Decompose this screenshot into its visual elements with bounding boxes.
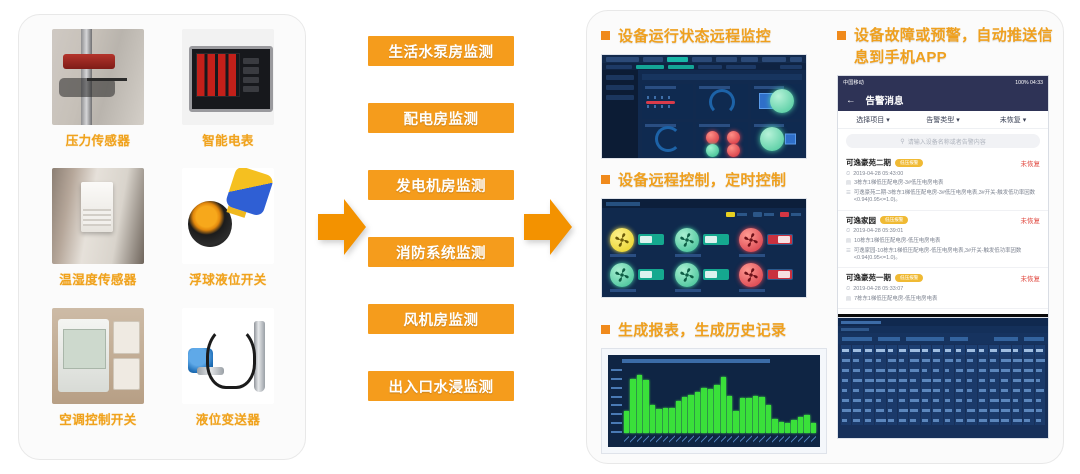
table-column-header xyxy=(955,345,965,355)
fan-control-1[interactable] xyxy=(608,223,671,256)
table-cell xyxy=(955,355,965,365)
device-label: 智能电表 xyxy=(202,130,254,149)
square-bullet-icon xyxy=(601,175,610,184)
scada-dashboard-screenshot[interactable] xyxy=(601,54,807,159)
table-cell xyxy=(944,355,954,365)
device-label: 浮球液位开关 xyxy=(189,269,266,288)
alarm-list-item[interactable]: 可逸家园 低压报警 未恢复 ⏲ 2019-04-28 05:39:01 ▤ 10… xyxy=(838,211,1048,269)
scenario-item-fan-room[interactable]: 风机房监测 xyxy=(368,304,514,334)
table-cell xyxy=(966,385,976,395)
scenario-item-entrance-flood[interactable]: 出入口水浸监测 xyxy=(368,371,514,401)
chart-bar xyxy=(688,395,693,433)
fan-control-2[interactable] xyxy=(673,223,736,256)
table-cell xyxy=(1035,395,1045,405)
search-input[interactable]: ⚲ 请输入设备名称或者告警内容 xyxy=(846,134,1040,148)
fan-icon xyxy=(739,228,763,252)
widget-round-gauge[interactable] xyxy=(696,84,747,119)
device-icon: ▤ xyxy=(846,180,851,187)
table-cell xyxy=(898,405,908,415)
chart-x-tick xyxy=(630,435,635,443)
chart-bar xyxy=(791,420,796,433)
alarm-detail: 可逸家园-10栋东1梯低压配电房-低压电房电表,3#开关-触发低功率因数<0.9… xyxy=(854,248,1040,263)
table-cell xyxy=(921,355,931,365)
table-cell xyxy=(875,415,885,425)
table-row[interactable] xyxy=(841,395,1045,405)
control-legend xyxy=(726,212,801,217)
table-cell xyxy=(978,405,988,415)
table-cell xyxy=(1035,405,1045,415)
dashboard-sidebar[interactable] xyxy=(602,70,638,158)
alarm-status-badge: 未恢复 xyxy=(1021,273,1041,283)
alarm-list-item[interactable]: 可逸豪苑一期 低压报警 未恢复 ⏲ 2019-04-28 05:33:07 ▤ … xyxy=(838,268,1048,309)
table-cell xyxy=(841,375,851,385)
table-cell xyxy=(864,415,874,425)
table-grid xyxy=(841,345,1045,434)
fan-toggle[interactable] xyxy=(703,269,729,280)
table-cell xyxy=(1000,365,1010,375)
table-cell xyxy=(875,375,885,385)
chart-bar xyxy=(772,419,777,433)
chart-x-tick xyxy=(811,435,816,443)
fan-label xyxy=(675,254,701,257)
table-cell xyxy=(1012,385,1022,395)
table-cell xyxy=(875,355,885,365)
section-remote-and-timed-control: 设备远程控制，定时控制 xyxy=(601,169,813,298)
chart-y-tick xyxy=(611,431,622,433)
float-ball-level-switch-photo xyxy=(182,168,274,264)
table-cell xyxy=(841,395,851,405)
alarm-project: 可逸豪苑二期 xyxy=(846,157,891,168)
chart-bar xyxy=(624,411,629,433)
chart-x-tick xyxy=(733,435,738,443)
table-cell xyxy=(875,395,885,405)
table-cell xyxy=(966,365,976,375)
chart-x-tick xyxy=(766,435,771,443)
info-icon: ☰ xyxy=(846,248,851,263)
table-cell xyxy=(978,365,988,375)
table-cell xyxy=(932,405,942,415)
table-column-header xyxy=(898,345,908,355)
alarm-device: 10栋东1梯低压配电房-低压电房电表 xyxy=(854,238,940,245)
table-cell xyxy=(909,375,919,385)
section-title: 生成报表，生成历史记录 xyxy=(601,319,833,340)
fan-toggle[interactable] xyxy=(638,234,664,245)
table-cell xyxy=(955,385,965,395)
alarm-header: 可逸豪苑二期 低压报警 未恢复 xyxy=(846,157,1040,168)
chart-bar xyxy=(643,380,648,433)
chart-y-tick xyxy=(611,404,622,406)
widget-big-button[interactable] xyxy=(751,122,802,157)
chart-bar xyxy=(663,408,668,433)
device-label: 压力传感器 xyxy=(66,130,131,149)
table-cell xyxy=(1012,355,1022,365)
pressure-sensor-photo xyxy=(52,29,144,125)
filter-select-project[interactable]: 选择项目 ▾ xyxy=(838,115,908,125)
chart-x-tick xyxy=(701,435,706,443)
table-cell xyxy=(966,415,976,425)
table-column-header xyxy=(978,345,988,355)
table-cell xyxy=(989,385,999,395)
fan-control-5[interactable] xyxy=(673,258,736,291)
device-icon: ▤ xyxy=(846,238,851,245)
chart-x-tick xyxy=(740,435,745,443)
energy-report-chart-screenshot[interactable] xyxy=(601,348,827,454)
table-cell xyxy=(841,355,851,365)
table-row[interactable] xyxy=(841,355,1045,365)
fan-toggle[interactable] xyxy=(638,269,664,280)
alarm-type-badge: 低压报警 xyxy=(880,216,908,224)
chart-x-tick xyxy=(650,435,655,443)
table-toolbar[interactable] xyxy=(838,333,1048,344)
table-cell xyxy=(841,365,851,375)
level-transmitter-photo xyxy=(182,308,274,404)
chart-title xyxy=(622,359,770,363)
chart-y-tick xyxy=(611,396,622,398)
table-cell xyxy=(841,415,851,425)
alarm-device: 7栋东1梯低压配电房-低压电房电表 xyxy=(854,296,937,303)
info-icon: ☰ xyxy=(846,190,851,205)
table-cell xyxy=(1000,385,1010,395)
dashboard-sub-tabs[interactable] xyxy=(602,63,806,70)
mobile-app-screenshot[interactable]: 中国移动 100% 04:33 ← 告警消息 选择项目 ▾ 告警类型 ▾ 未恢复… xyxy=(837,75,1049,337)
table-cell xyxy=(932,375,942,385)
table-column-header xyxy=(932,345,942,355)
table-cell xyxy=(898,365,908,375)
fan-control-3[interactable] xyxy=(737,223,800,256)
fan-toggle[interactable] xyxy=(767,234,793,245)
remote-control-screenshot[interactable] xyxy=(601,198,807,298)
section-title: 设备故障或预警，自动推送信息到手机APP xyxy=(837,25,1055,69)
section-title-text: 生成报表，生成历史记录 xyxy=(618,319,786,340)
chart-x-tick xyxy=(753,435,758,443)
table-cell xyxy=(909,385,919,395)
fan-icon xyxy=(739,263,763,287)
table-cell xyxy=(887,385,897,395)
table-column-header xyxy=(1000,345,1010,355)
alarm-filter-row: 选择项目 ▾ 告警类型 ▾ 未恢复 ▾ xyxy=(838,111,1048,129)
chart-bar xyxy=(630,379,635,433)
alarm-list-item[interactable]: 可逸豪苑二期 低压报警 未恢复 ⏲ 2019-04-28 05:43:00 ▤ … xyxy=(838,153,1048,211)
table-cell xyxy=(1023,385,1033,395)
table-cell xyxy=(978,385,988,395)
table-column-header xyxy=(852,345,862,355)
table-cell xyxy=(875,385,885,395)
table-cell xyxy=(887,365,897,375)
table-cell xyxy=(944,385,954,395)
table-cell xyxy=(955,365,965,375)
table-row[interactable] xyxy=(841,415,1045,425)
device-gallery-panel: 压力传感器 智能电表 温湿度传感器 xyxy=(18,14,306,460)
clock-icon: ⏲ xyxy=(846,286,850,293)
table-cell xyxy=(921,415,931,425)
section-title-text: 设备运行状态远程监控 xyxy=(618,25,771,46)
table-cell xyxy=(864,395,874,405)
ac-display: 25.3 34.5 xyxy=(65,331,102,366)
table-cell xyxy=(978,395,988,405)
table-cell xyxy=(932,365,942,375)
arrow-right-icon xyxy=(522,196,574,258)
breadcrumb xyxy=(838,326,1048,333)
table-column-header xyxy=(909,345,919,355)
fan-toggle[interactable] xyxy=(767,269,793,280)
table-cell xyxy=(932,385,942,395)
chart-bar xyxy=(650,405,655,433)
table-cell xyxy=(898,385,908,395)
clock-icon: ⏲ xyxy=(846,228,850,235)
table-cell xyxy=(1012,415,1022,425)
table-cell xyxy=(1023,375,1033,385)
table-cell xyxy=(841,405,851,415)
table-cell xyxy=(898,415,908,425)
chart-bar xyxy=(804,415,809,433)
table-cell xyxy=(875,405,885,415)
fan-control-6[interactable] xyxy=(737,258,800,291)
table-cell xyxy=(1023,365,1033,375)
table-row[interactable] xyxy=(841,405,1045,415)
scenario-item-fire-system[interactable]: 消防系统监测 xyxy=(368,237,514,267)
table-cell xyxy=(887,395,897,405)
alarm-device-row: ▤ 10栋东1梯低压配电房-低压电房电表 xyxy=(846,238,1040,245)
infographic-root: 压力传感器 智能电表 温湿度传感器 xyxy=(0,0,1080,474)
chart-canvas xyxy=(608,355,820,447)
battery-time-label: 100% 04:33 xyxy=(1015,80,1043,86)
table-cell xyxy=(921,365,931,375)
table-column-header xyxy=(921,345,931,355)
table-cell xyxy=(1000,415,1010,425)
table-cell xyxy=(1012,405,1022,415)
legend-stopped xyxy=(753,212,774,217)
device-card-float-level-switch[interactable]: 浮球液位开关 xyxy=(163,168,293,307)
chart-bar xyxy=(656,409,661,433)
table-cell xyxy=(1023,405,1033,415)
chart-x-tick xyxy=(727,435,732,443)
table-cell xyxy=(841,385,851,395)
chart-bar xyxy=(695,392,700,433)
ac-display-line-2: 34.5 xyxy=(65,341,102,351)
alarm-time: 2019-04-28 05:43:00 xyxy=(853,171,903,178)
dashboard-card-header xyxy=(642,74,802,80)
fan-control-grid xyxy=(608,223,800,291)
table-cell xyxy=(989,355,999,365)
alarm-time: 2019-04-28 05:33:07 xyxy=(853,286,903,293)
table-cell xyxy=(1023,395,1033,405)
chart-x-tick xyxy=(772,435,777,443)
fan-label xyxy=(739,254,765,257)
alarm-header: 可逸豪苑一期 低压报警 未恢复 xyxy=(846,272,1040,283)
alarm-detail-row: ☰ 可逸家园-10栋东1梯低压配电房-低压电房电表,3#开关-触发低功率因数<0… xyxy=(846,248,1040,263)
chart-y-axis xyxy=(611,369,622,433)
chart-y-tick xyxy=(611,413,622,415)
table-cell xyxy=(898,355,908,365)
table-cell xyxy=(955,405,965,415)
table-cell xyxy=(921,385,931,395)
chart-x-tick xyxy=(791,435,796,443)
temperature-humidity-sensor-photo xyxy=(52,168,144,264)
section-title-text: 设备远程控制，定时控制 xyxy=(618,169,786,190)
section-title: 设备远程控制，定时控制 xyxy=(601,169,813,190)
scenario-item-generator-room[interactable]: 发电机房监测 xyxy=(368,170,514,200)
table-cell xyxy=(1035,385,1045,395)
alarm-type-badge: 低压报警 xyxy=(895,159,923,167)
chart-x-tick xyxy=(785,435,790,443)
table-cell xyxy=(966,405,976,415)
table-column-header xyxy=(989,345,999,355)
table-cell xyxy=(1000,395,1010,405)
scenario-item-water-pump-room[interactable]: 生活水泵房监测 xyxy=(368,36,514,66)
table-cell xyxy=(898,395,908,405)
table-cell xyxy=(1000,405,1010,415)
table-cell xyxy=(921,395,931,405)
device-card-pressure-sensor[interactable]: 压力传感器 xyxy=(33,29,163,168)
alarm-project: 可逸豪苑一期 xyxy=(846,272,891,283)
section-alarm-push-to-mobile-app: 设备故障或预警，自动推送信息到手机APP 中国移动 100% 04:33 ← 告… xyxy=(837,25,1055,337)
table-cell xyxy=(887,355,897,365)
table-row[interactable] xyxy=(841,385,1045,395)
fan-icon xyxy=(675,263,699,287)
fan-toggle[interactable] xyxy=(703,234,729,245)
monitoring-scenario-list: 生活水泵房监测 配电房监测 发电机房监测 消防系统监测 风机房监测 出入口水浸监… xyxy=(368,36,514,401)
device-label: 液位变送器 xyxy=(196,409,261,428)
chart-bar xyxy=(669,408,674,433)
alarm-header: 可逸家园 低压报警 未恢复 xyxy=(846,215,1040,226)
chart-x-tick xyxy=(624,435,629,443)
search-placeholder: 请输入设备名称或者告警内容 xyxy=(908,137,986,146)
device-grid: 压力传感器 智能电表 温湿度传感器 xyxy=(33,29,293,447)
chart-x-tick xyxy=(682,435,687,443)
probe-body-icon xyxy=(197,367,225,375)
chart-bar xyxy=(701,388,706,433)
chart-x-tick xyxy=(746,435,751,443)
section-remote-status-monitoring: 设备运行状态远程监控 xyxy=(601,25,813,159)
table-cell xyxy=(932,395,942,405)
filter-select-status[interactable]: 未恢复 ▾ xyxy=(978,115,1048,125)
chart-x-tick xyxy=(656,435,661,443)
widget-buttons[interactable] xyxy=(751,84,802,119)
arrow-right-icon xyxy=(316,196,368,258)
table-cell xyxy=(978,355,988,365)
widget-status-lamps[interactable] xyxy=(696,122,747,157)
table-app-header xyxy=(838,318,1048,326)
table-cell xyxy=(1035,355,1045,365)
chart-bars xyxy=(624,369,816,433)
app-bar-title: 告警消息 xyxy=(866,93,904,107)
dashboard-top-tabs[interactable] xyxy=(602,55,806,63)
device-card-smart-meter[interactable]: 智能电表 xyxy=(163,29,293,168)
device-card-temp-humidity-sensor[interactable]: 温湿度传感器 xyxy=(33,168,163,307)
device-icon: ▤ xyxy=(846,296,851,303)
table-cell xyxy=(1000,355,1010,365)
table-cell xyxy=(852,415,862,425)
table-cell xyxy=(852,375,862,385)
scenario-item-power-distribution-room[interactable]: 配电房监测 xyxy=(368,103,514,133)
table-cell xyxy=(978,375,988,385)
meter-digit-rows xyxy=(197,54,239,96)
chart-bar xyxy=(779,422,784,433)
fan-label xyxy=(610,289,636,292)
widget-round-gauge-2[interactable] xyxy=(642,122,693,157)
fan-label xyxy=(739,289,765,292)
table-cell xyxy=(887,405,897,415)
table-cell xyxy=(852,355,862,365)
table-cell xyxy=(955,415,965,425)
fan-control-4[interactable] xyxy=(608,258,671,291)
table-column-header xyxy=(841,345,851,355)
legend-running xyxy=(726,212,747,217)
chart-x-tick xyxy=(688,435,693,443)
chart-y-tick xyxy=(611,422,622,424)
table-cell xyxy=(966,375,976,385)
table-cell xyxy=(989,405,999,415)
platform-capabilities-panel: 设备运行状态远程监控 xyxy=(586,10,1064,464)
control-header xyxy=(602,199,806,208)
table-cell xyxy=(1035,415,1045,425)
chart-bar xyxy=(721,377,726,433)
history-report-table-screenshot[interactable] xyxy=(837,317,1049,439)
alarm-status-badge: 未恢复 xyxy=(1021,158,1041,168)
fan-icon xyxy=(610,263,634,287)
search-icon: ⚲ xyxy=(900,138,904,145)
table-row[interactable] xyxy=(841,365,1045,375)
chart-x-tick xyxy=(637,435,642,443)
table-cell xyxy=(944,395,954,405)
arrow-left-icon[interactable]: ← xyxy=(846,95,856,106)
alarm-time: 2019-04-28 05:39:01 xyxy=(853,228,903,235)
table-cell xyxy=(1035,365,1045,375)
table-cell xyxy=(887,415,897,425)
table-cell xyxy=(864,355,874,365)
widget-slider-indicator[interactable] xyxy=(642,84,693,119)
table-cell xyxy=(944,375,954,385)
table-column-header xyxy=(875,345,885,355)
table-row[interactable] xyxy=(841,375,1045,385)
chart-bar xyxy=(733,411,738,433)
device-card-ac-control-switch[interactable]: 25.3 34.5 空调控制开关 xyxy=(33,308,163,447)
air-conditioner-control-switch-photo: 25.3 34.5 xyxy=(52,308,144,404)
app-bar: ← 告警消息 xyxy=(838,89,1048,111)
chart-bar xyxy=(759,397,764,433)
table-cell xyxy=(932,415,942,425)
chart-bar xyxy=(811,423,816,433)
device-card-level-transmitter[interactable]: 液位变送器 xyxy=(163,308,293,447)
chart-x-tick xyxy=(804,435,809,443)
table-column-header xyxy=(944,345,954,355)
fan-label xyxy=(675,289,701,292)
table-cell xyxy=(887,375,897,385)
chart-bar xyxy=(766,405,771,433)
chart-bar xyxy=(714,385,719,433)
table-cell xyxy=(909,395,919,405)
table-cell xyxy=(932,355,942,365)
table-cell xyxy=(978,415,988,425)
table-column-header xyxy=(1035,345,1045,355)
square-bullet-icon xyxy=(601,325,610,334)
clock-icon: ⏲ xyxy=(846,171,850,178)
section-title-text: 设备故障或预警，自动推送信息到手机APP xyxy=(854,25,1055,69)
chart-bar xyxy=(708,389,713,433)
chart-bar xyxy=(785,423,790,433)
table-cell xyxy=(1000,375,1010,385)
table-cell xyxy=(955,375,965,385)
chart-bar xyxy=(682,397,687,433)
table-cell xyxy=(864,375,874,385)
filter-select-alarm-type[interactable]: 告警类型 ▾ xyxy=(908,115,978,125)
table-column-header xyxy=(1012,345,1022,355)
chart-x-tick xyxy=(676,435,681,443)
alarm-time-row: ⏲ 2019-04-28 05:33:07 xyxy=(846,286,1040,293)
alarm-time-row: ⏲ 2019-04-28 05:43:00 xyxy=(846,171,1040,178)
alarm-time-row: ⏲ 2019-04-28 05:39:01 xyxy=(846,228,1040,235)
chart-y-tick xyxy=(611,387,622,389)
